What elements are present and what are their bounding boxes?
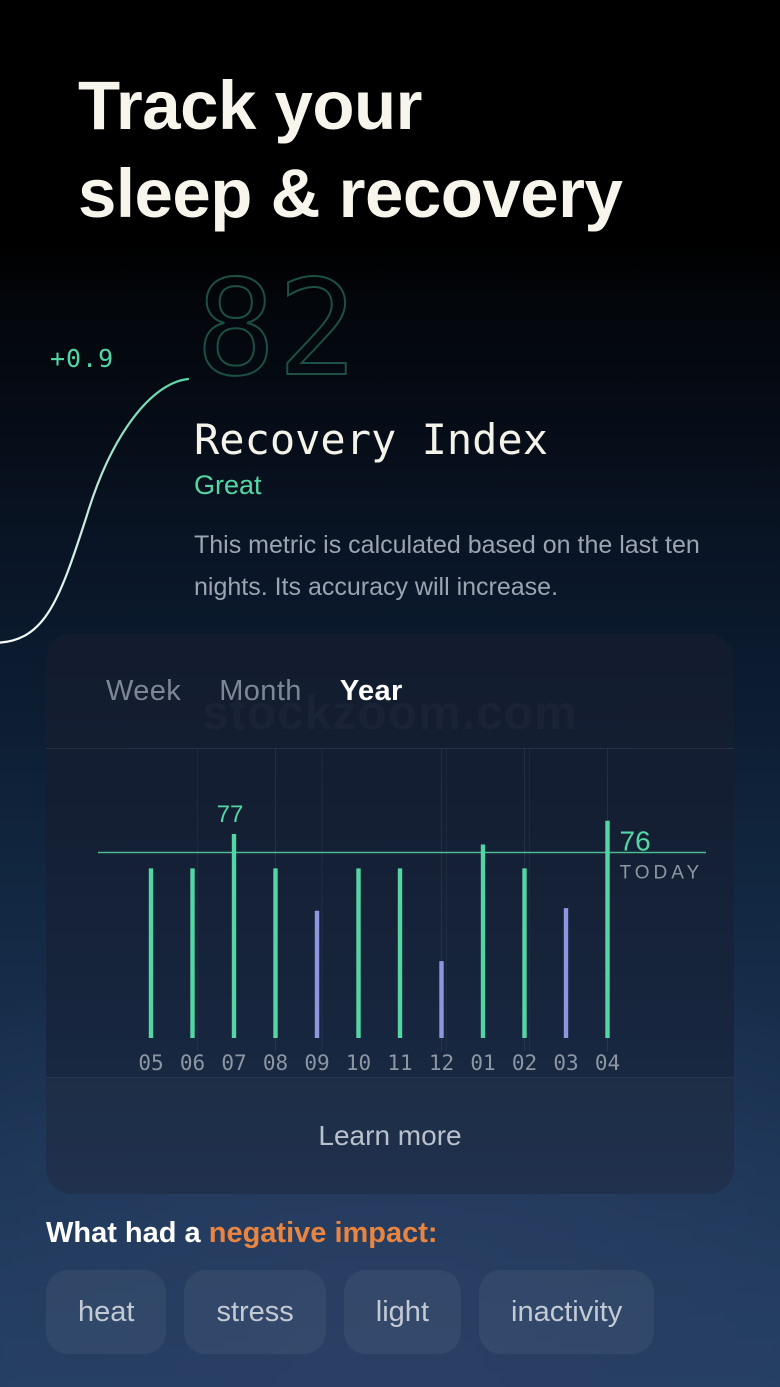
svg-text:06: 06 xyxy=(180,1051,205,1075)
chip-heat[interactable]: heat xyxy=(46,1270,166,1354)
metric-title: Recovery Index xyxy=(194,415,548,464)
page-headline: Track your sleep & recovery xyxy=(78,62,738,238)
impact-prefix: What had a xyxy=(46,1217,209,1249)
recovery-bar-chart[interactable]: 0506070809101112010203047776TODAY xyxy=(46,748,734,1078)
tab-month[interactable]: Month xyxy=(219,675,302,708)
chip-stress[interactable]: stress xyxy=(184,1270,325,1354)
range-tabs: Week Month Year xyxy=(46,634,734,748)
impact-accent: negative impact: xyxy=(209,1217,438,1249)
app-screen: Track your sleep & recovery 82 +0.9 Reco… xyxy=(0,0,780,1387)
recovery-chart-card: stockzoom.com Week Month Year 0506070809… xyxy=(46,634,734,1194)
svg-text:09: 09 xyxy=(304,1051,329,1075)
svg-text:04: 04 xyxy=(595,1051,620,1075)
metric-description: This metric is calculated based on the l… xyxy=(194,524,774,608)
trend-curve-decoration xyxy=(0,355,202,645)
svg-text:02: 02 xyxy=(512,1051,537,1075)
svg-text:03: 03 xyxy=(553,1051,578,1075)
svg-text:12: 12 xyxy=(429,1051,454,1075)
svg-text:11: 11 xyxy=(387,1051,412,1075)
svg-text:01: 01 xyxy=(470,1051,495,1075)
svg-text:76: 76 xyxy=(620,826,651,857)
chart-canvas: 0506070809101112010203047776TODAY xyxy=(46,749,734,1079)
svg-text:08: 08 xyxy=(263,1051,288,1075)
chip-light[interactable]: light xyxy=(344,1270,461,1354)
recovery-score-delta: +0.9 xyxy=(50,344,114,373)
svg-text:07: 07 xyxy=(221,1051,246,1075)
metric-rating: Great xyxy=(194,470,262,501)
tab-year[interactable]: Year xyxy=(340,675,403,708)
svg-text:77: 77 xyxy=(217,801,244,828)
tab-week[interactable]: Week xyxy=(106,675,181,708)
negative-impact-chip-list: heat stress light inactivity xyxy=(46,1270,654,1354)
svg-text:TODAY: TODAY xyxy=(620,863,704,884)
negative-impact-heading: What had a negative impact: xyxy=(46,1217,438,1250)
learn-more-button[interactable]: Learn more xyxy=(46,1078,734,1194)
chip-inactivity[interactable]: inactivity xyxy=(479,1270,654,1354)
recovery-score-value: 82 xyxy=(196,263,359,395)
svg-text:05: 05 xyxy=(138,1051,163,1075)
svg-text:10: 10 xyxy=(346,1051,371,1075)
